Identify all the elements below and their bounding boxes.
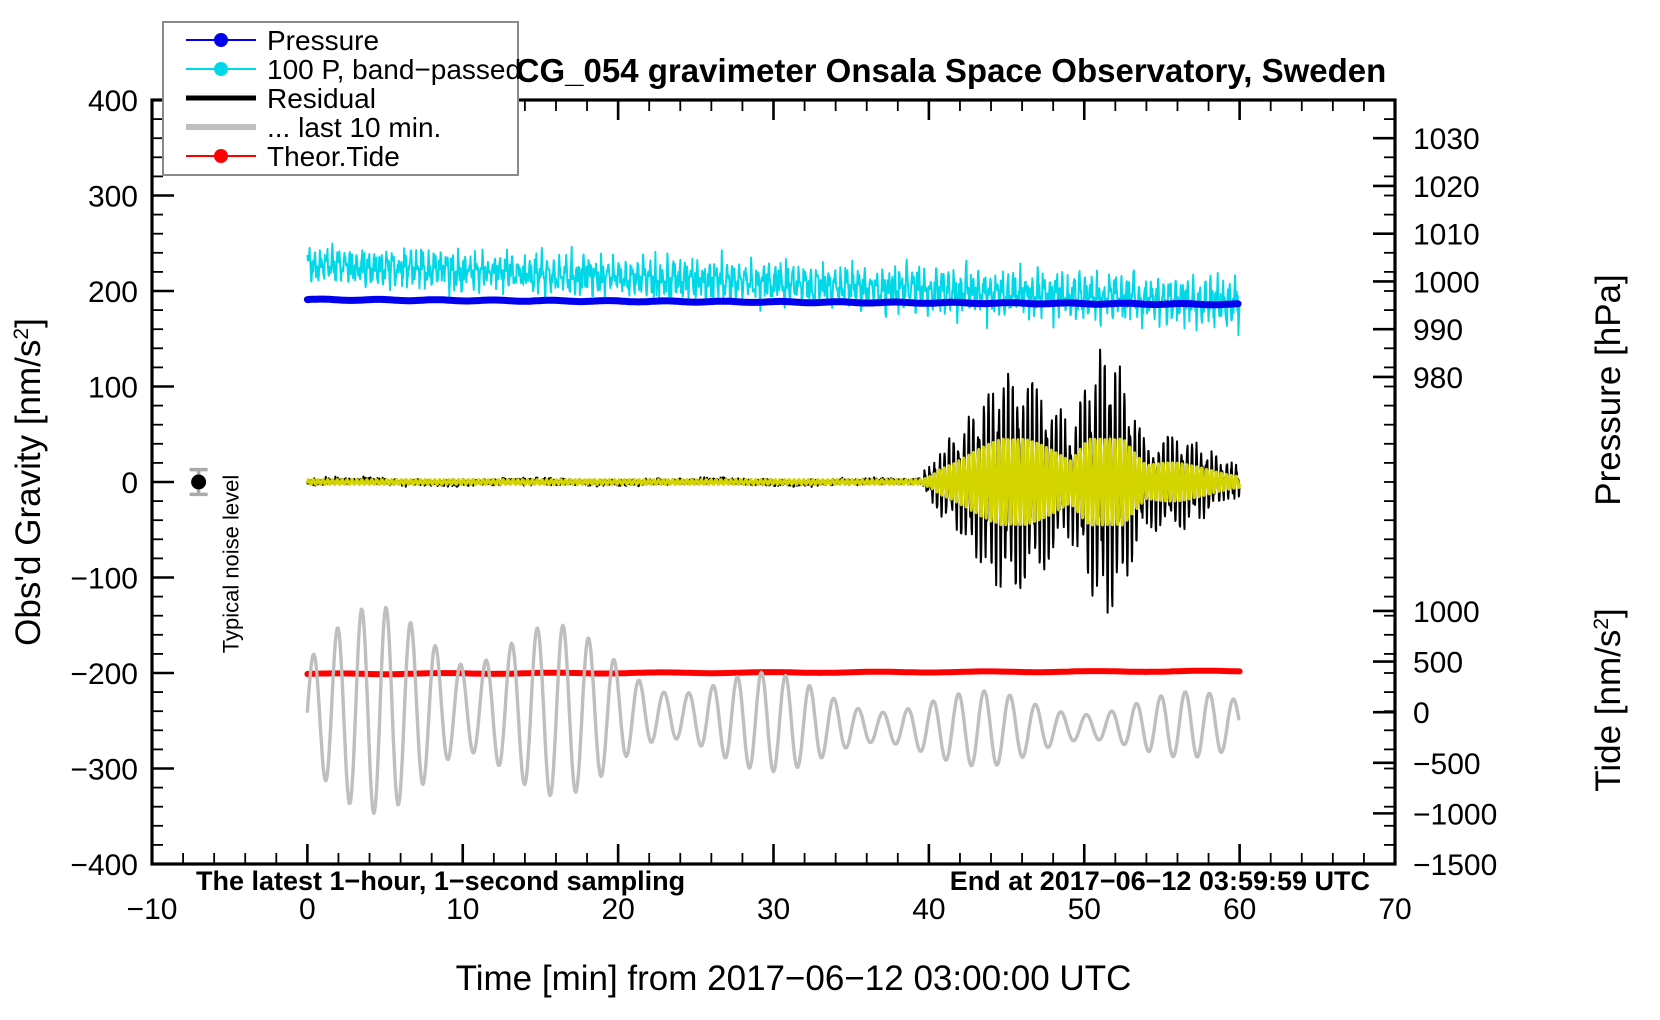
y-left-tick-label: 400 bbox=[88, 85, 138, 118]
trace-theor-tide bbox=[307, 671, 1239, 675]
y-left-tick-label: 300 bbox=[88, 181, 138, 214]
footer-right-note: End at 2017−06−12 03:59:59 UTC bbox=[950, 866, 1370, 896]
legend-swatch-marker bbox=[214, 149, 228, 163]
y-left-tick-label: −200 bbox=[70, 658, 138, 691]
trace-pressure-bandpassed bbox=[307, 243, 1239, 335]
y-right-bottom-tick-label: 1000 bbox=[1413, 596, 1480, 629]
legend-item-label: 100 P, band−passed bbox=[267, 54, 521, 85]
x-tick-label: 30 bbox=[757, 893, 790, 926]
legend-item-label: Pressure bbox=[267, 25, 379, 56]
y-right-top-tick-label: 1010 bbox=[1413, 219, 1480, 252]
y-right-top-tick-label: 990 bbox=[1413, 314, 1463, 347]
y-right-bottom-axis-title-text: Tide [nm/s2] bbox=[1589, 608, 1628, 792]
x-tick-label: −10 bbox=[127, 893, 178, 926]
data-traces-group: Typical noise level bbox=[190, 243, 1240, 813]
y-right-top-tick-label: 1000 bbox=[1413, 266, 1480, 299]
y-left-axis-title: Obs'd Gravity [nm/s2] bbox=[9, 318, 48, 646]
legend-item-label: ... last 10 min. bbox=[267, 112, 441, 143]
y-left-tick-label: −100 bbox=[70, 563, 138, 596]
y-right-bottom-tick-label: −500 bbox=[1413, 748, 1481, 781]
legend-item-label: Theor.Tide bbox=[267, 141, 400, 172]
y-right-top-tick-label: 980 bbox=[1413, 362, 1463, 395]
y-left-tick-label: 0 bbox=[121, 467, 138, 500]
y-right-bottom-tick-label: −1500 bbox=[1413, 849, 1497, 882]
labels-group: −100102030405060704003002001000−100−200−… bbox=[9, 22, 1628, 998]
typical-noise-level-label: Typical noise level bbox=[219, 475, 244, 654]
x-tick-label: 70 bbox=[1378, 893, 1411, 926]
x-tick-label: 0 bbox=[299, 893, 316, 926]
x-axis-title: Time [min] from 2017−06−12 03:00:00 UTC bbox=[456, 959, 1132, 998]
plot-title: SCG_054 gravimeter Onsala Space Observat… bbox=[494, 52, 1387, 89]
x-tick-label: 50 bbox=[1068, 893, 1101, 926]
y-left-axis-title-text: Obs'd Gravity [nm/s2] bbox=[9, 318, 48, 646]
legend-swatch-marker bbox=[214, 33, 228, 47]
y-right-bottom-tick-label: 500 bbox=[1413, 647, 1463, 680]
trace-pressure bbox=[307, 299, 1238, 305]
y-right-top-axis-title-text: Pressure [hPa] bbox=[1589, 274, 1628, 506]
x-tick-label: 60 bbox=[1223, 893, 1256, 926]
y-right-top-axis-title: Pressure [hPa] bbox=[1589, 274, 1628, 506]
y-right-top-tick-label: 1020 bbox=[1413, 171, 1480, 204]
y-right-bottom-tick-label: 0 bbox=[1413, 697, 1430, 730]
y-right-top-tick-label: 1030 bbox=[1413, 123, 1480, 156]
y-left-tick-label: 200 bbox=[88, 276, 138, 309]
typical-noise-level-marker: Typical noise level bbox=[190, 470, 244, 654]
footer-left-note: The latest 1−hour, 1−second sampling bbox=[196, 866, 685, 896]
trace-last-10-min bbox=[307, 608, 1238, 814]
y-left-tick-label: −400 bbox=[70, 849, 138, 882]
x-tick-label: 10 bbox=[446, 893, 479, 926]
y-left-tick-label: −300 bbox=[70, 754, 138, 787]
x-tick-label: 20 bbox=[601, 893, 634, 926]
noise-marker-dot bbox=[191, 475, 206, 490]
y-left-tick-label: 100 bbox=[88, 372, 138, 405]
legend: Pressure100 P, band−passedResidual... la… bbox=[163, 22, 521, 175]
gravimeter-plot-page: Typical noise level−10010203040506070400… bbox=[0, 0, 1660, 1020]
gravimeter-figure: Typical noise level−10010203040506070400… bbox=[0, 0, 1660, 1020]
y-right-bottom-tick-label: −1000 bbox=[1413, 798, 1497, 831]
legend-swatch-marker bbox=[214, 62, 228, 76]
y-right-bottom-axis-title: Tide [nm/s2] bbox=[1589, 608, 1628, 792]
legend-item-label: Residual bbox=[267, 83, 376, 114]
x-tick-label: 40 bbox=[912, 893, 945, 926]
